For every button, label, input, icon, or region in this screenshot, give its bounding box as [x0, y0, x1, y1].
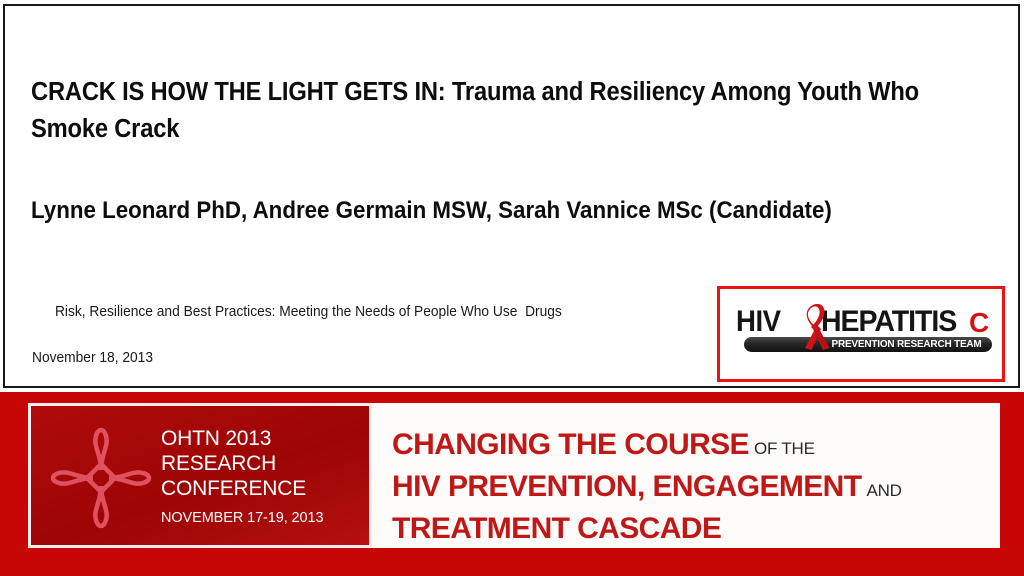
- logo-banner-text: PREVENTION RESEARCH TEAM: [756, 337, 992, 352]
- aids-ribbon-icon: [798, 304, 836, 350]
- tagline-line2-small: AND: [861, 481, 901, 500]
- conference-name: Risk, Resilience and Best Practices: Mee…: [55, 304, 562, 320]
- logo-c-text: C: [969, 309, 989, 337]
- logo-banner-bar: PREVENTION RESEARCH TEAM: [744, 337, 992, 352]
- presentation-slide: CRACK IS HOW THE LIGHT GETS IN: Trauma a…: [0, 0, 1024, 576]
- banner-tagline: CHANGING THE COURSEOF THE HIV PREVENTION…: [392, 426, 992, 552]
- tagline-row-3: TREATMENT CASCADE: [392, 510, 992, 552]
- ohtn-ornament-icon: [47, 424, 155, 532]
- authors-line: Lynne Leonard PhD, Andree Germain MSW, S…: [31, 196, 924, 226]
- tagline-row-2: HIV PREVENTION, ENGAGEMENTAND: [392, 468, 992, 510]
- tagline-line1-small: OF THE: [749, 439, 815, 458]
- banner-tagline-panel: CHANGING THE COURSEOF THE HIV PREVENTION…: [372, 403, 1000, 548]
- ohtn-text-block: OHTN 2013 RESEARCH CONFERENCE NOVEMBER 1…: [161, 426, 367, 527]
- logo-inner: HIV HEPATITIS C PREVENTION RESEARCH TEAM: [736, 307, 998, 359]
- ohtn-line-2: RESEARCH: [161, 451, 367, 476]
- ohtn-line-3: CONFERENCE: [161, 476, 367, 501]
- ohtn-line-1: OHTN 2013: [161, 426, 367, 451]
- tagline-row-1: CHANGING THE COURSEOF THE: [392, 426, 992, 468]
- title-block: CRACK IS HOW THE LIGHT GETS IN: Trauma a…: [31, 74, 991, 148]
- hiv-hepatitis-logo: HIV HEPATITIS C PREVENTION RESEARCH TEAM: [717, 286, 1005, 382]
- tagline-line2-main: HIV PREVENTION, ENGAGEMENT: [392, 470, 861, 503]
- logo-hiv-text: HIV: [736, 307, 781, 337]
- slide-content-area: CRACK IS HOW THE LIGHT GETS IN: Trauma a…: [3, 4, 1020, 388]
- ohtn-conference-badge: OHTN 2013 RESEARCH CONFERENCE NOVEMBER 1…: [28, 403, 372, 548]
- conference-banner: OHTN 2013 RESEARCH CONFERENCE NOVEMBER 1…: [0, 392, 1024, 576]
- page-title: CRACK IS HOW THE LIGHT GETS IN: Trauma a…: [31, 74, 924, 148]
- ohtn-dates: NOVEMBER 17-19, 2013: [161, 510, 367, 527]
- logo-wordmark: HIV HEPATITIS C: [736, 307, 998, 341]
- tagline-line1-main: CHANGING THE COURSE: [392, 428, 749, 461]
- conference-date: November 18, 2013: [32, 347, 640, 370]
- tagline-line3-main: TREATMENT CASCADE: [392, 512, 721, 545]
- logo-hepatitis-text: HEPATITIS: [821, 307, 956, 337]
